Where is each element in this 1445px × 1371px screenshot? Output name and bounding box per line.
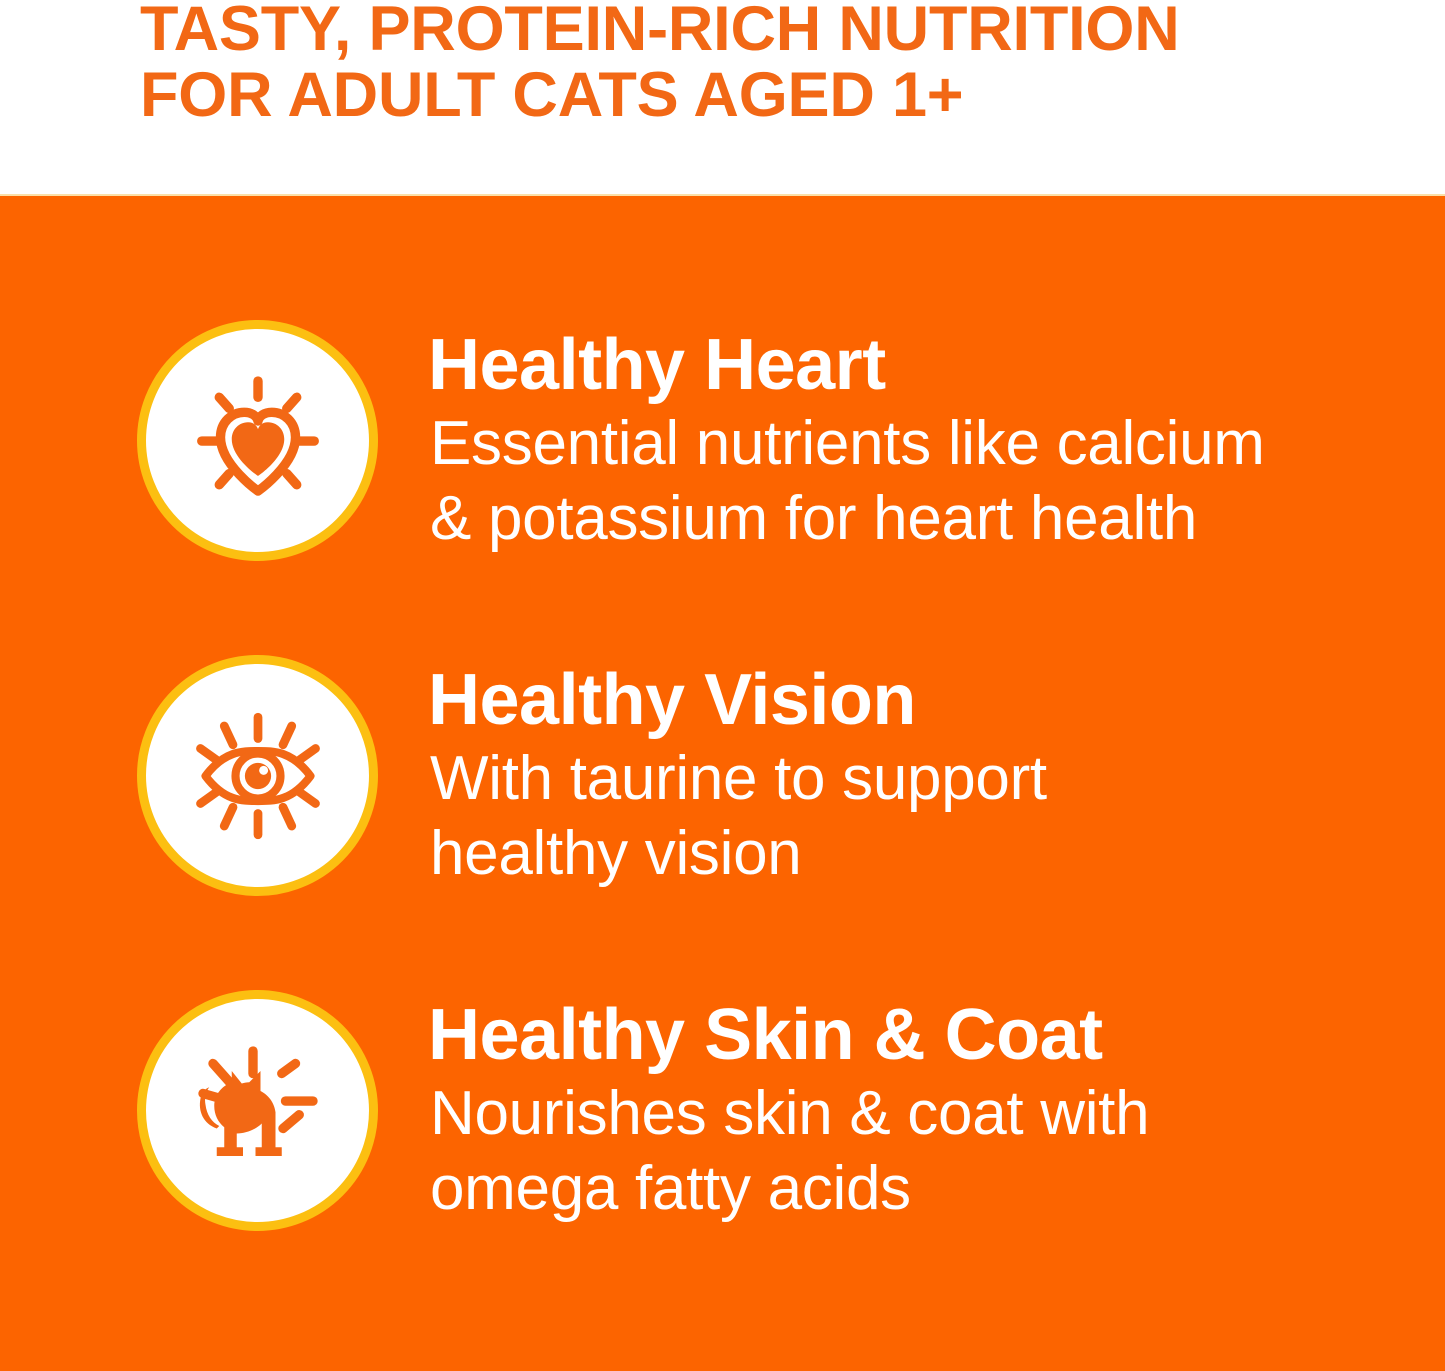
benefit-text-block: Healthy Vision With taurine to support h… (428, 663, 1388, 891)
headline: TASTY, PROTEIN-RICH NUTRITION FOR ADULT … (140, 0, 1390, 128)
benefit-description: With taurine to support healthy vision (430, 741, 1388, 891)
radiant-heart-icon (183, 366, 333, 516)
benefit-text-block: Healthy Skin & Coat Nourishes skin & coa… (428, 998, 1388, 1226)
benefit-title: Healthy Heart (428, 328, 1388, 402)
header-band: TASTY, PROTEIN-RICH NUTRITION FOR ADULT … (0, 0, 1445, 196)
benefit-description: Nourishes skin & coat with omega fatty a… (430, 1076, 1388, 1226)
radiant-cat-icon-badge (137, 990, 378, 1231)
radiant-heart-icon-badge (137, 320, 378, 561)
benefit-description: Essential nutrients like calcium & potas… (430, 406, 1388, 556)
benefit-title: Healthy Vision (428, 663, 1388, 737)
radiant-eye-icon-badge (137, 655, 378, 896)
benefit-title: Healthy Skin & Coat (428, 998, 1388, 1072)
product-benefits-banner: TASTY, PROTEIN-RICH NUTRITION FOR ADULT … (0, 0, 1445, 1371)
radiant-eye-icon (183, 701, 333, 851)
radiant-cat-icon (183, 1036, 333, 1186)
panel-top-divider (0, 194, 1445, 196)
benefit-text-block: Healthy Heart Essential nutrients like c… (428, 328, 1388, 556)
